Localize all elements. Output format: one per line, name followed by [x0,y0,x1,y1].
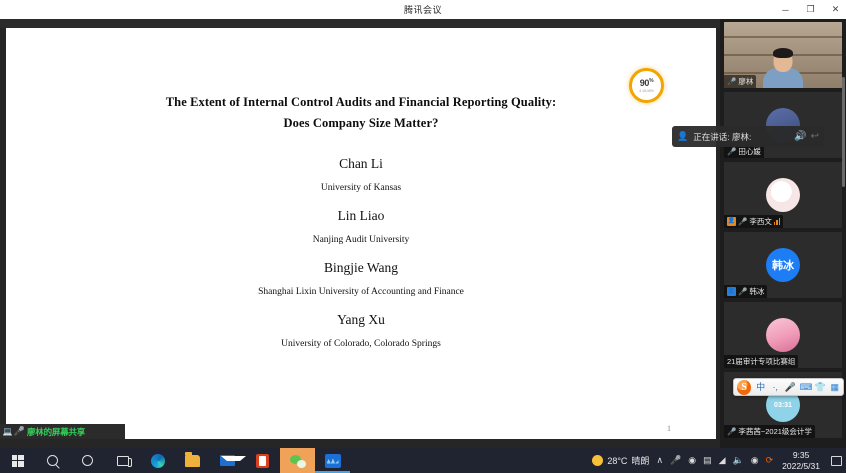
sogou-icon[interactable]: ⟳ [766,455,774,466]
author-name: Yang Xu [6,312,716,327]
participant-tile[interactable]: 韩冰 👤 🎤 韩冰 [724,232,842,298]
participant-tile[interactable]: 21届审计专项比赛组 [724,302,842,368]
taskbar-clock[interactable]: 9:35 2022/5/31 [782,450,820,472]
clock-date: 2022/5/31 [782,461,820,472]
author-affiliation: Nanjing Audit University [6,234,716,246]
slide-page-number: 1 [667,424,671,433]
arrow-icon[interactable]: ↩ [811,131,819,142]
slide-author-list: Chan Li University of Kansas Lin Liao Na… [6,156,716,350]
weather-condition: 晴朗 [631,454,649,467]
sogou-logo-icon[interactable]: S [737,380,751,395]
cortana-icon [82,455,93,466]
window-title-bar: 腾讯会议 ─ ❐ ✕ [0,0,846,19]
participant-name: 田心媛 [738,146,761,157]
shared-screen-slide[interactable]: The Extent of Internal Control Audits an… [6,28,716,439]
avatar [766,178,800,212]
progress-percent-value: 90 [640,78,649,88]
avatar [766,318,800,352]
screen-root: 腾讯会议 ─ ❐ ✕ The Extent of Internal Contro… [0,0,846,473]
toolbox-icon[interactable]: ▦ [829,382,840,393]
avatar: 韩冰 [766,248,800,282]
meeting-tray-icon[interactable]: ◉ [688,455,696,466]
slide-title-line-1: The Extent of Internal Control Audits an… [6,92,716,113]
tray-icons[interactable]: ∧ 🎤 ◉ ▤ ◢ 🔈 ◉ ⟳ [656,455,773,466]
task-view-icon [117,456,129,466]
participant-name: 韩冰 [749,286,764,297]
progress-subtext: 4 15:40% [639,89,653,94]
participant-name-bar: 21届审计专项比赛组 [724,355,798,368]
microphone-off-icon: 🎤 [727,148,736,156]
participant-name-bar: 👤 🎤 韩冰 [724,285,767,298]
soft-keyboard-icon[interactable]: ⌨ [799,382,810,393]
file-explorer-button[interactable] [175,448,210,473]
microphone-on-icon: 🎤 [727,78,736,86]
folder-icon [185,455,200,467]
avatar-initials: 韩冰 [772,257,794,273]
network-icon[interactable]: ◢ [719,455,726,466]
chinese-mode-icon[interactable]: 中 [755,382,766,393]
screen-share-label: 廖林的屏幕共享 [27,426,85,438]
meeting-icon [325,454,341,468]
avatar-initials: 03:31 [774,402,792,409]
start-button[interactable] [0,448,35,473]
percent-symbol: % [649,78,653,84]
participant-name: 李西文 [749,216,772,227]
participant-name-bar: 👤 🎤 李西文 [724,215,783,228]
search-icon [47,455,58,466]
person-speaking-icon: 👤 [677,131,688,142]
participant-tile[interactable]: 👤 🎤 李西文 [724,162,842,228]
author-affiliation: Shanghai Lixin University of Accounting … [6,286,716,298]
author-name: Bingjie Wang [6,260,716,275]
mail-button[interactable] [210,448,245,473]
battery-icon[interactable]: ▤ [703,455,712,466]
chevron-up-icon[interactable]: ∧ [656,455,663,466]
microphone-off-icon: 🎤 [738,288,747,296]
signal-strength-icon [774,218,781,225]
microphone-icon[interactable]: 🎤 [670,455,681,466]
tencent-meeting-button[interactable] [315,448,350,473]
participant-tile[interactable]: 🎤 田心媛 [724,92,842,158]
sogou-ime-toolbar[interactable]: S 中 ·, 🎤 ⌨ 👕 ▦ [733,378,844,396]
sun-icon [592,455,603,466]
clock-time: 9:35 [782,450,820,461]
wechat-icon [290,454,306,468]
speaking-indicator-label: 正在讲话: 廖林: [693,131,751,143]
microphone-icon: 🎤 [15,427,24,436]
author-name: Chan Li [6,156,716,171]
volume-icon[interactable]: 🔈 [733,455,744,466]
skin-icon[interactable]: 👕 [814,382,825,393]
weather-widget[interactable]: 28°C 晴朗 [592,454,649,467]
windows-logo-icon [12,455,24,467]
host-badge-icon: 👤 [727,287,736,296]
close-button[interactable]: ✕ [829,4,842,15]
microphone-off-icon: 🎤 [727,428,736,436]
mail-icon [220,455,235,466]
progress-timer-badge: 90% 4 15:40% [629,68,664,103]
taskbar-system-tray[interactable]: 28°C 晴朗 ∧ 🎤 ◉ ▤ ◢ 🔈 ◉ ⟳ 9:35 2022/5/31 [592,448,842,473]
search-button[interactable] [35,448,70,473]
edge-button[interactable] [140,448,175,473]
office-button[interactable] [245,448,280,473]
participant-name: 廖林 [738,76,753,87]
task-view-button[interactable] [105,448,140,473]
cortana-button[interactable] [70,448,105,473]
voice-input-icon[interactable]: 🎤 [784,382,795,393]
monitor-icon: 💻 [3,427,12,436]
progress-percent: 90% [640,77,654,88]
participant-name: 21届审计专项比赛组 [727,356,795,367]
volume-icon[interactable]: 🔊 [794,131,806,142]
speaking-indicator-toast: 👤 正在讲话: 廖林: 🔊 ↩ [672,126,824,147]
participant-name-bar: 🎤 廖林 [724,75,756,88]
screen-share-indicator: 💻 🎤 廖林的屏幕共享 [0,424,125,439]
office-icon [256,454,269,468]
author-name: Lin Liao [6,208,716,223]
shared-screen-topstrip [0,19,720,28]
punctuation-icon[interactable]: ·, [770,382,781,393]
window-controls: ─ ❐ ✕ [779,0,842,19]
slide-title: The Extent of Internal Control Audits an… [6,92,716,134]
slide-title-line-2: Does Company Size Matter? [6,113,716,134]
toast-actions[interactable]: 🔊 ↩ [794,131,819,142]
participant-rail-scrollbar[interactable] [842,77,845,187]
host-badge-icon: 👤 [727,217,736,226]
author-affiliation: University of Colorado, Colorado Springs [6,338,716,350]
taskbar-app-buttons[interactable] [0,448,350,473]
window-title: 腾讯会议 [404,3,442,16]
participant-tile-active-speaker[interactable]: 🎤 廖林 [724,22,842,88]
microphone-off-icon: 🎤 [738,218,747,226]
input-method-icon[interactable]: ◉ [751,455,759,466]
minimize-button[interactable]: ─ [779,5,792,15]
wechat-button[interactable] [280,448,315,473]
weather-temperature: 28°C [607,456,627,466]
meeting-window-body: The Extent of Internal Control Audits an… [0,19,846,448]
author-affiliation: University of Kansas [6,182,716,194]
participant-name: 李茜茜~2021级会计学 [738,426,812,437]
participant-name-bar: 🎤 李茜茜~2021级会计学 [724,425,815,438]
notification-icon[interactable] [831,456,842,466]
windows-taskbar[interactable]: 28°C 晴朗 ∧ 🎤 ◉ ▤ ◢ 🔈 ◉ ⟳ 9:35 2022/5/31 [0,448,846,473]
maximize-button[interactable]: ❐ [804,4,817,15]
edge-icon [151,454,165,468]
